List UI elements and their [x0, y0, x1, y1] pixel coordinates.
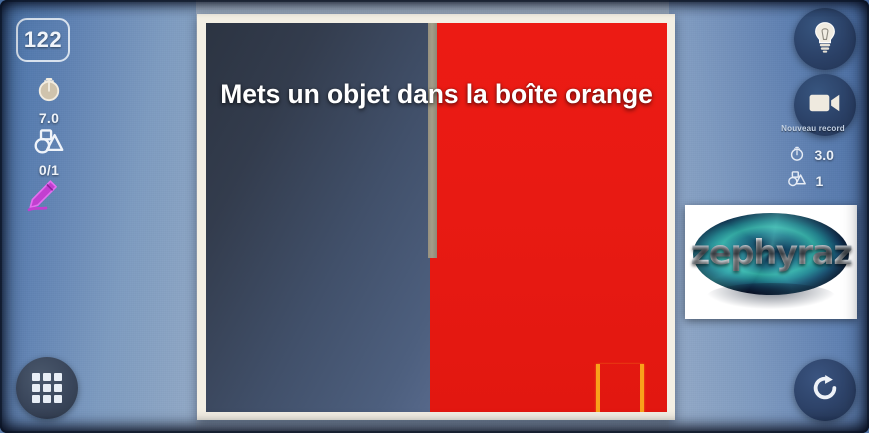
logo-reflection-shadow — [707, 283, 835, 309]
record-shapes-row: 1 — [763, 170, 863, 191]
shapes-icon — [787, 170, 807, 191]
logo-wordmark: zephyraz — [685, 233, 857, 273]
shapes-stat: 0/1 — [0, 128, 98, 178]
record-stats: 3.0 1 — [763, 140, 863, 191]
restart-arrow-icon — [809, 372, 841, 409]
shapes-icon — [33, 143, 65, 160]
board-divider-wall — [428, 23, 438, 258]
instruction-text: Mets un objet dans la boîte orange — [206, 79, 667, 110]
restart-button[interactable] — [794, 359, 856, 421]
game-board-frame: Mets un objet dans la boîte orange — [197, 14, 675, 420]
zephyraz-logo: zephyraz — [685, 205, 857, 319]
record-time-row: 3.0 — [763, 144, 863, 166]
stopwatch-icon — [34, 91, 64, 108]
lightbulb-icon — [810, 21, 840, 58]
record-time-value: 3.0 — [815, 147, 839, 163]
record-label: Nouveau record — [763, 124, 863, 133]
left-hud: 122 7.0 — [0, 0, 98, 433]
level-badge: 122 — [16, 18, 70, 62]
hint-button[interactable] — [794, 8, 856, 70]
video-camera-icon — [808, 91, 842, 120]
record-shapes-value: 1 — [816, 173, 840, 189]
pencil-icon[interactable] — [22, 178, 62, 219]
apps-grid-button[interactable] — [16, 357, 78, 419]
orange-box[interactable] — [596, 364, 644, 412]
app-screen: 122 7.0 — [0, 0, 869, 433]
stopwatch-icon — [788, 144, 806, 166]
timer-stat: 7.0 — [0, 74, 98, 126]
shapes-value: 0/1 — [0, 162, 98, 178]
timer-value: 7.0 — [0, 110, 98, 126]
grid-apps-icon — [32, 373, 62, 403]
game-board[interactable]: Mets un objet dans la boîte orange — [206, 23, 667, 412]
